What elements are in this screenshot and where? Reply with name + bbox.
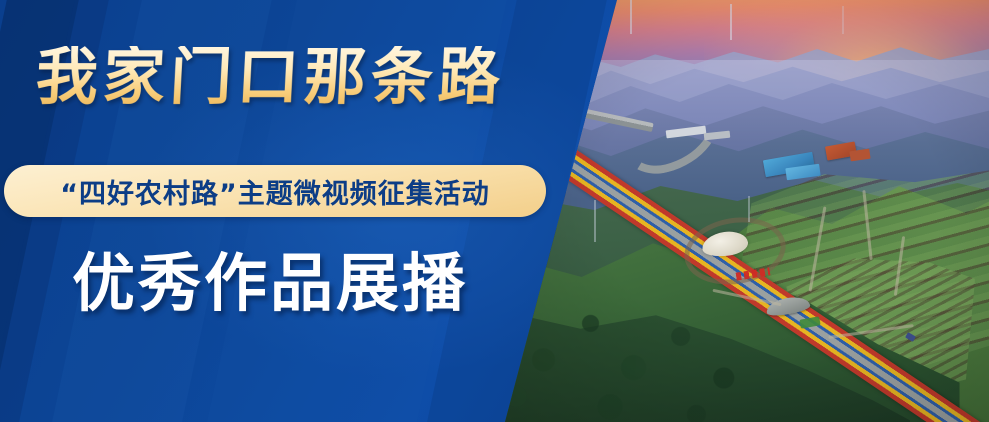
- campaign-pill-label: “四好农村路”主题微视频征集活动: [60, 172, 490, 211]
- page-title: 我家门口那条路: [34, 46, 506, 108]
- transmission-pylon-4: [842, 6, 844, 34]
- promo-banner: 我家门口那条路 “四好农村路”主题微视频征集活动 优秀作品展播: [0, 0, 989, 422]
- transmission-pylon-6: [748, 196, 750, 222]
- transmission-pylon-2: [630, 0, 632, 34]
- text-content-area: 我家门口那条路 “四好农村路”主题微视频征集活动 优秀作品展播: [0, 0, 617, 422]
- section-subtitle: 优秀作品展播: [72, 252, 468, 315]
- transmission-pylon-3: [730, 4, 732, 40]
- campaign-pill: “四好农村路”主题微视频征集活动: [4, 165, 546, 217]
